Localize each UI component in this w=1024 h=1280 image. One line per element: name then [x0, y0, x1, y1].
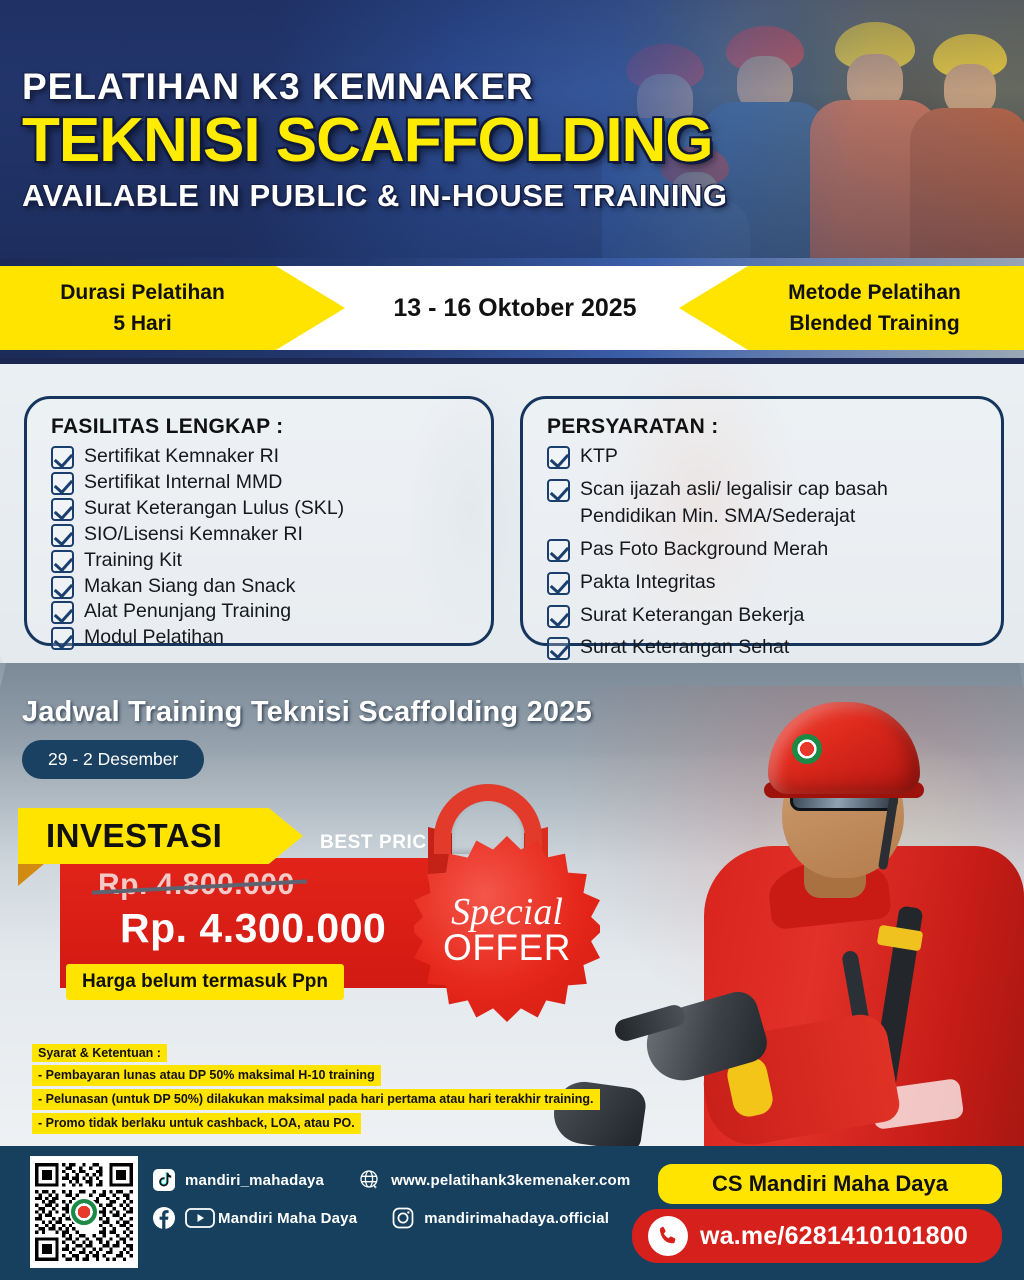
special-offer-badge: Special OFFER — [404, 784, 600, 1030]
check-icon — [51, 601, 74, 624]
instagram-item[interactable]: mandirimahadaya.official — [391, 1206, 609, 1230]
list-item: Surat Keterangan Bekerja — [547, 602, 983, 629]
new-price: Rp. 4.300.000 — [120, 905, 386, 952]
cs-contact-block: CS Mandiri Maha Daya wa.me/6281410101800 — [632, 1164, 1002, 1263]
check-icon — [51, 627, 74, 650]
qr-code[interactable] — [30, 1156, 138, 1268]
duration-value: 5 Hari — [113, 308, 171, 340]
terms-heading: Syarat & Ketentuan : — [32, 1044, 167, 1062]
check-icon — [51, 524, 74, 547]
terms-line: - Pelunasan (untuk DP 50%) dilakukan mak… — [32, 1089, 600, 1113]
cs-title: CS Mandiri Maha Daya — [658, 1164, 1002, 1204]
list-item-label: Scan ijazah asli/ legalisir cap basahPen… — [580, 476, 888, 530]
check-icon — [51, 446, 74, 469]
list-item: KTP — [547, 443, 983, 470]
tiktok-icon — [152, 1168, 176, 1192]
instagram-icon — [391, 1206, 415, 1230]
special-text: Special — [451, 893, 563, 931]
check-icon — [51, 472, 74, 495]
list-item-label: Pas Foto Background Merah — [580, 536, 828, 563]
list-item-label: Alat Penunjang Training — [84, 598, 291, 625]
terms-line-text: - Promo tidak berlaku untuk cashback, LO… — [32, 1113, 361, 1134]
training-date: 13 - 16 Oktober 2025 — [250, 266, 780, 350]
social-links: mandiri_mahadaya www.pelatihank3kemenake… — [152, 1168, 664, 1244]
terms-line-text: - Pembayaran lunas atau DP 50% maksimal … — [32, 1065, 381, 1086]
investasi-ribbon: INVESTASI — [18, 808, 303, 864]
footer: mandiri_mahadaya www.pelatihank3kemenake… — [0, 1146, 1024, 1280]
header-line1: PELATIHAN K3 KEMNAKER — [22, 68, 728, 107]
instagram-handle: mandirimahadaya.official — [424, 1210, 609, 1227]
list-item: Alat Penunjang Training — [51, 598, 473, 625]
ppn-note: Harga belum termasuk Ppn — [66, 964, 344, 1000]
list-item-label: Surat Keterangan Bekerja — [580, 602, 804, 629]
list-item: Sertifikat Internal MMD — [51, 469, 473, 496]
check-icon — [547, 446, 570, 469]
terms-line: - Pembayaran lunas atau DP 50% maksimal … — [32, 1065, 600, 1089]
list-item-label: Surat Keterangan Lulus (SKL) — [84, 495, 344, 522]
header-title: TEKNISI SCAFFOLDING — [22, 109, 728, 172]
old-price: Rp. 4.800.000 — [98, 868, 295, 902]
list-item-label: KTP — [580, 443, 618, 470]
check-icon — [547, 479, 570, 502]
list-item-label: Surat Keterangan Sehat — [580, 634, 789, 661]
check-icon — [51, 576, 74, 599]
list-item: Scan ijazah asli/ legalisir cap basahPen… — [547, 476, 983, 530]
whatsapp-number: wa.me/6281410101800 — [700, 1222, 968, 1251]
list-item-label: Training Kit — [84, 547, 182, 574]
tiktok-item[interactable]: mandiri_mahadaya — [152, 1168, 324, 1192]
social-row-1: mandiri_mahadaya www.pelatihank3kemenake… — [152, 1168, 664, 1192]
list-item: Pakta Integritas — [547, 569, 983, 596]
terms-line-text: - Pelunasan (untuk DP 50%) dilakukan mak… — [32, 1089, 600, 1110]
website-item[interactable]: www.pelatihank3kemenaker.com — [358, 1168, 630, 1192]
facilities-list: Sertifikat Kemnaker RISertifikat Interna… — [51, 443, 473, 651]
list-item-label: Sertifikat Kemnaker RI — [84, 443, 279, 470]
investasi-label: INVESTASI — [46, 817, 222, 855]
list-item-label: Makan Siang dan Snack — [84, 573, 295, 600]
offer-text: OFFER — [443, 929, 571, 966]
requirements-title: PERSYARATAN : — [547, 415, 983, 439]
list-item: Pas Foto Background Merah — [547, 536, 983, 563]
website-url: www.pelatihank3kemenaker.com — [391, 1172, 630, 1189]
facebook-youtube-item[interactable]: Mandiri Maha Daya — [152, 1206, 357, 1230]
header-text-block: PELATIHAN K3 KEMNAKER TEKNISI SCAFFOLDIN… — [22, 68, 728, 214]
schedule-title: Jadwal Training Teknisi Scaffolding 2025 — [22, 696, 592, 729]
youtube-icon — [185, 1206, 209, 1230]
check-icon — [547, 572, 570, 595]
check-icon — [547, 605, 570, 628]
facilities-card: FASILITAS LENGKAP : Sertifikat Kemnaker … — [24, 396, 494, 646]
worker-helmet-logo-icon — [792, 734, 822, 764]
header-section: PELATIHAN K3 KEMNAKER TEKNISI SCAFFOLDIN… — [0, 0, 1024, 258]
schedule-date-pill[interactable]: 29 - 2 Desember — [22, 740, 204, 779]
terms-line: - Promo tidak berlaku untuk cashback, LO… — [32, 1113, 600, 1137]
list-item-label: Sertifikat Internal MMD — [84, 469, 282, 496]
requirements-list: KTPScan ijazah asli/ legalisir cap basah… — [547, 443, 983, 661]
check-icon — [547, 637, 570, 660]
social-row-2: Mandiri Maha Daya mandirimahadaya.offici… — [152, 1206, 664, 1230]
terms-lines: - Pembayaran lunas atau DP 50% maksimal … — [32, 1065, 600, 1137]
requirements-card: PERSYARATAN : KTPScan ijazah asli/ legal… — [520, 396, 1004, 646]
poster: PELATIHAN K3 KEMNAKER TEKNISI SCAFFOLDIN… — [0, 0, 1024, 1280]
list-item: SIO/Lisensi Kemnaker RI — [51, 521, 473, 548]
header-line3: AVAILABLE IN PUBLIC & IN-HOUSE TRAINING — [22, 178, 728, 214]
investasi-ribbon-fold — [18, 864, 44, 886]
check-icon — [51, 498, 74, 521]
qr-code-grid — [35, 1161, 133, 1263]
tiktok-handle: mandiri_mahadaya — [185, 1172, 324, 1189]
terms-section: Syarat & Ketentuan : - Pembayaran lunas … — [32, 1044, 600, 1137]
qr-center-logo-icon — [69, 1197, 99, 1227]
ribbon-loop — [434, 784, 542, 854]
method-label: Metode Pelatihan — [788, 277, 961, 309]
list-item: Surat Keterangan Sehat — [547, 634, 983, 661]
facebook-icon — [152, 1206, 176, 1230]
list-item: Sertifikat Kemnaker RI — [51, 443, 473, 470]
mid-section: FASILITAS LENGKAP : Sertifikat Kemnaker … — [0, 358, 1024, 663]
globe-icon — [358, 1168, 382, 1192]
info-band: Durasi Pelatihan 5 Hari 13 - 16 Oktober … — [0, 258, 1024, 358]
list-item: Modul Pelatihan — [51, 624, 473, 651]
method-value: Blended Training — [789, 308, 959, 340]
list-item: Makan Siang dan Snack — [51, 573, 473, 600]
facebook-youtube-handle: Mandiri Maha Daya — [218, 1210, 357, 1227]
facilities-title: FASILITAS LENGKAP : — [51, 415, 473, 439]
phone-icon — [648, 1216, 688, 1256]
list-item-label: SIO/Lisensi Kemnaker RI — [84, 521, 303, 548]
check-icon — [547, 539, 570, 562]
list-item-label: Modul Pelatihan — [84, 624, 224, 651]
list-item: Surat Keterangan Lulus (SKL) — [51, 495, 473, 522]
whatsapp-link[interactable]: wa.me/6281410101800 — [632, 1209, 1002, 1263]
mid-top-divider — [0, 358, 1024, 364]
list-item: Training Kit — [51, 547, 473, 574]
check-icon — [51, 550, 74, 573]
duration-label: Durasi Pelatihan — [60, 277, 225, 309]
list-item-label: Pakta Integritas — [580, 569, 716, 596]
